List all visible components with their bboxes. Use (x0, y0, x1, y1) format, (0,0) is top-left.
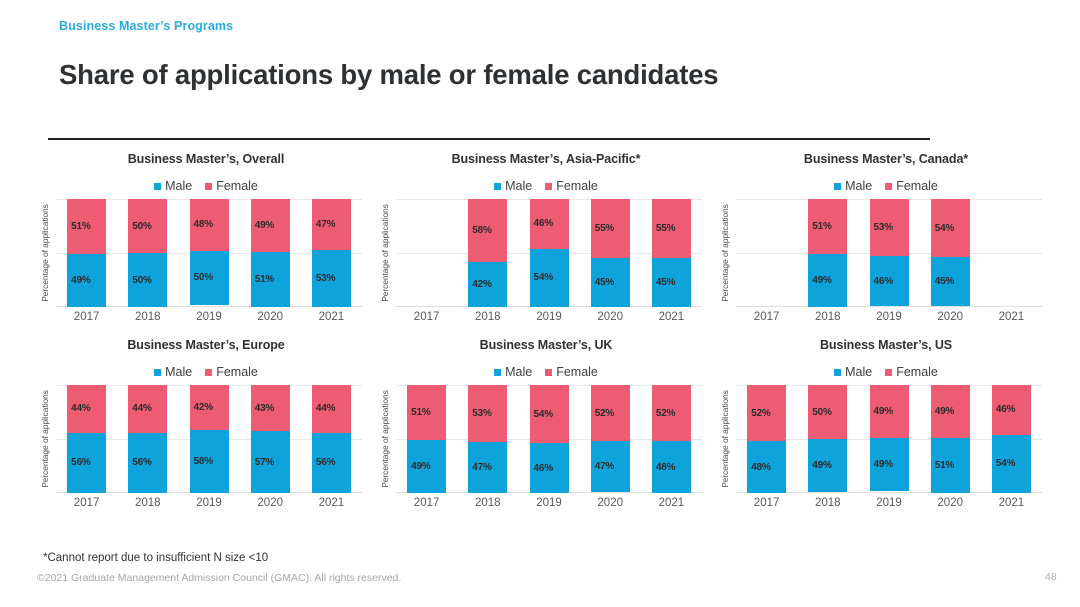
bar-segment-male-2019[interactable]: 49% (870, 438, 909, 491)
y-axis-label: Percentage of applications (36, 199, 53, 307)
bar-segment-male-2020[interactable]: 57% (251, 431, 290, 493)
bar-group: 51%49%50%50%48%50%49%51%47%53% (56, 199, 362, 307)
legend-label: Male (845, 365, 872, 379)
bar-segment-male-2021[interactable]: 56% (312, 433, 351, 493)
x-axis-tick-2021: 2021 (641, 497, 702, 509)
bar-segment-male-2021[interactable]: 45% (652, 258, 691, 307)
stacked-bar-2020[interactable]: 52%47% (591, 385, 630, 493)
bar-segment-male-2018[interactable]: 42% (468, 262, 507, 307)
legend-item-male[interactable]: Male (834, 179, 872, 193)
legend-label: Male (165, 179, 192, 193)
copyright-text: ©2021 Graduate Management Admission Coun… (37, 572, 401, 584)
x-axis-ticks: 20172018201920202021 (736, 497, 1042, 509)
legend-item-female[interactable]: Female (545, 365, 598, 379)
bar-slot-2019: 53%46% (858, 199, 919, 307)
plot-area: Percentage of applications44%56%44%56%42… (36, 385, 376, 493)
bar-segment-female-2021[interactable]: 47% (312, 199, 351, 250)
bar-slot-2020: 49%51% (920, 385, 981, 493)
stacked-bar-2017[interactable]: 44%56% (67, 385, 106, 493)
bar-value-label: 44% (128, 403, 151, 414)
bar-value-label: 53% (468, 408, 491, 419)
bar-value-label: 50% (128, 221, 151, 232)
plot-area: Percentage of applications52%48%50%49%49… (716, 385, 1056, 493)
x-axis-tick-2018: 2018 (117, 311, 178, 323)
legend-item-female[interactable]: Female (885, 179, 938, 193)
bar-segment-female-2021[interactable]: 44% (312, 385, 351, 433)
chart-title: Business Master’s, Canada* (716, 150, 1056, 168)
bar-segment-male-2020[interactable]: 47% (591, 441, 630, 492)
chart-business-masters-us: Business Master’s, USMaleFemalePercentag… (716, 336, 1056, 509)
bar-value-label: 45% (652, 277, 675, 288)
bar-value-label: 56% (312, 457, 335, 468)
legend-label: Female (216, 179, 258, 193)
bar-segment-female-2018[interactable]: 58% (468, 199, 507, 262)
bar-segment-male-2017[interactable]: 49% (407, 440, 446, 493)
x-axis-tick-2020: 2020 (920, 497, 981, 509)
bar-segment-female-2019[interactable]: 53% (870, 199, 909, 256)
stacked-bar-2021[interactable]: 47%53% (312, 199, 351, 307)
stacked-bar-2021[interactable]: 55%45% (652, 199, 691, 307)
bar-slot-2020: 52%47% (580, 385, 641, 493)
bar-slot-2021 (981, 199, 1042, 307)
bar-group: 51%49%53%46%54%45% (736, 199, 1042, 307)
bar-value-label: 49% (808, 275, 831, 286)
bar-segment-male-2018[interactable]: 56% (128, 433, 167, 493)
bar-slot-2021: 52%48% (641, 385, 702, 493)
bar-slot-2019: 54%46% (518, 385, 579, 493)
bar-segment-female-2019[interactable]: 48% (190, 199, 229, 251)
x-axis-ticks: 20172018201920202021 (56, 497, 362, 509)
bar-value-label: 58% (468, 225, 491, 236)
bar-value-label: 50% (190, 272, 213, 283)
legend-item-male[interactable]: Male (834, 365, 872, 379)
bar-value-label: 45% (931, 276, 954, 287)
chart-title: Business Master’s, Europe (36, 336, 376, 354)
bar-value-label: 46% (992, 404, 1015, 415)
bar-group: 58%42%46%54%55%45%55%45% (396, 199, 702, 307)
x-axis-tick-2018: 2018 (117, 497, 178, 509)
bar-value-label: 49% (251, 220, 274, 231)
bar-segment-male-2019[interactable]: 58% (190, 430, 229, 493)
bar-segment-male-2017[interactable]: 49% (67, 254, 106, 307)
x-axis: 20172018201920202021 (716, 497, 1056, 509)
plot-canvas: 51%49%53%46%54%45% (736, 199, 1042, 307)
legend-swatch-icon (885, 183, 892, 190)
legend-label: Female (556, 179, 598, 193)
legend-item-female[interactable]: Female (205, 365, 258, 379)
bar-segment-male-2020[interactable]: 45% (931, 257, 970, 306)
stacked-bar-2018[interactable]: 51%49% (808, 199, 847, 307)
y-axis-label-text: Percentage of applications (720, 204, 730, 302)
bar-group: 52%48%50%49%49%49%49%51%46%54% (736, 385, 1042, 493)
x-axis-tick-2019: 2019 (858, 311, 919, 323)
bar-value-label: 42% (468, 279, 491, 290)
bar-segment-male-2017[interactable]: 48% (747, 441, 786, 493)
x-axis-tick-2017: 2017 (396, 311, 457, 323)
bar-value-label: 53% (870, 222, 893, 233)
bar-slot-2019: 46%54% (518, 199, 579, 307)
bar-segment-female-2017[interactable]: 44% (67, 385, 106, 433)
bar-value-label: 43% (251, 403, 274, 414)
bar-segment-male-2020[interactable]: 45% (591, 258, 630, 307)
bar-segment-female-2020[interactable]: 49% (251, 199, 290, 252)
x-axis-ticks: 20172018201920202021 (56, 311, 362, 323)
chart-row-bottom: Business Master’s, EuropeMaleFemalePerce… (36, 336, 1056, 509)
plot-canvas: 51%49%53%47%54%46%52%47%52%48% (396, 385, 702, 493)
title-divider (48, 138, 930, 140)
x-axis-tick-2017: 2017 (736, 311, 797, 323)
legend-swatch-icon (494, 369, 501, 376)
bar-value-label: 51% (808, 221, 831, 232)
stacked-bar-2019[interactable]: 54%46% (530, 385, 569, 493)
x-axis-tick-2019: 2019 (518, 311, 579, 323)
x-axis-tick-2018: 2018 (457, 497, 518, 509)
y-axis-label: Percentage of applications (376, 199, 393, 307)
stacked-bar-2020[interactable]: 49%51% (931, 385, 970, 493)
bar-segment-female-2020[interactable]: 52% (591, 385, 630, 441)
bar-value-label: 47% (312, 219, 335, 230)
x-axis-tick-2018: 2018 (797, 497, 858, 509)
bar-value-label: 49% (808, 460, 831, 471)
plot-canvas: 44%56%44%56%42%58%43%57%44%56% (56, 385, 362, 493)
eyebrow-label: Business Master’s Programs (59, 19, 233, 33)
plot-area: Percentage of applications51%49%50%50%48… (36, 199, 376, 307)
x-axis-ticks: 20172018201920202021 (396, 497, 702, 509)
legend-item-female[interactable]: Female (545, 179, 598, 193)
bar-slot-2018: 58%42% (457, 199, 518, 307)
bar-slot-2021: 46%54% (981, 385, 1042, 493)
y-axis-label-text: Percentage of applications (380, 390, 390, 488)
legend-swatch-icon (205, 183, 212, 190)
bar-segment-male-2021[interactable]: 48% (652, 441, 691, 493)
bar-segment-male-2018[interactable]: 49% (808, 254, 847, 307)
bar-segment-female-2019[interactable]: 54% (530, 385, 569, 443)
footnote: *Cannot report due to insufficient N siz… (43, 552, 268, 564)
chart-title: Business Master’s, UK (376, 336, 716, 354)
bar-segment-female-2018[interactable]: 44% (128, 385, 167, 433)
bar-value-label: 49% (407, 461, 430, 472)
stacked-bar-2019[interactable]: 49%49% (870, 385, 909, 493)
x-axis-tick-2018: 2018 (797, 311, 858, 323)
bar-value-label: 48% (652, 462, 675, 473)
bar-value-label: 54% (530, 272, 553, 283)
x-axis-tick-2021: 2021 (981, 497, 1042, 509)
x-axis-tick-2018: 2018 (457, 311, 518, 323)
legend-label: Female (896, 179, 938, 193)
x-axis-tick-2019: 2019 (858, 497, 919, 509)
legend-label: Male (165, 365, 192, 379)
bar-segment-female-2019[interactable]: 49% (870, 385, 909, 438)
chart-legend: MaleFemale (716, 175, 1056, 197)
stacked-bar-2018[interactable]: 50%49% (808, 385, 847, 493)
bar-value-label: 44% (67, 403, 90, 414)
stacked-bar-2019[interactable]: 46%54% (530, 199, 569, 307)
page-number: 48 (1045, 571, 1057, 583)
bar-slot-2020: 43%57% (240, 385, 301, 493)
bar-group: 44%56%44%56%42%58%43%57%44%56% (56, 385, 362, 493)
bar-segment-male-2020[interactable]: 51% (251, 252, 290, 307)
bar-value-label: 49% (67, 275, 90, 286)
bar-slot-2017 (396, 199, 457, 307)
legend-label: Male (505, 365, 532, 379)
bar-segment-male-2018[interactable]: 47% (468, 442, 507, 493)
x-axis-tick-2017: 2017 (56, 497, 117, 509)
chart-row-top: Business Master’s, OverallMaleFemalePerc… (36, 150, 1056, 323)
bar-slot-2020: 55%45% (580, 199, 641, 307)
stacked-bar-2018[interactable]: 58%42% (468, 199, 507, 307)
x-axis-tick-2019: 2019 (178, 497, 239, 509)
bar-value-label: 48% (747, 462, 770, 473)
bar-value-label: 50% (808, 407, 831, 418)
chart-legend: MaleFemale (36, 175, 376, 197)
stacked-bar-2020[interactable]: 55%45% (591, 199, 630, 307)
bar-segment-female-2021[interactable]: 46% (992, 385, 1031, 435)
bar-value-label: 50% (128, 275, 151, 286)
stacked-bar-2018[interactable]: 44%56% (128, 385, 167, 493)
x-axis-spacer (376, 497, 396, 509)
bar-slot-2020: 54%45% (920, 199, 981, 307)
x-axis-tick-2020: 2020 (240, 497, 301, 509)
y-axis-label-text: Percentage of applications (40, 390, 50, 488)
x-axis-spacer (36, 311, 56, 323)
bar-slot-2021: 44%56% (301, 385, 362, 493)
bar-slot-2018: 50%49% (797, 385, 858, 493)
bar-segment-male-2018[interactable]: 50% (128, 253, 167, 307)
bar-value-label: 54% (530, 409, 553, 420)
stacked-bar-2021[interactable]: 44%56% (312, 385, 351, 493)
plot-area: Percentage of applications51%49%53%46%54… (716, 199, 1056, 307)
stacked-bar-2021[interactable]: 52%48% (652, 385, 691, 493)
stacked-bar-2020[interactable]: 54%45% (931, 199, 970, 307)
legend-swatch-icon (545, 183, 552, 190)
legend-swatch-icon (154, 183, 161, 190)
chart-business-masters-uk: Business Master’s, UKMaleFemalePercentag… (376, 336, 716, 509)
x-axis-tick-2020: 2020 (580, 497, 641, 509)
bar-value-label: 58% (190, 456, 213, 467)
stacked-bar-2019[interactable]: 53%46% (870, 199, 909, 307)
y-axis-label: Percentage of applications (36, 385, 53, 493)
bar-segment-female-2017[interactable]: 51% (67, 199, 106, 254)
x-axis: 20172018201920202021 (36, 311, 376, 323)
stacked-bar-2017[interactable]: 52%48% (747, 385, 786, 493)
bar-slot-2018: 44%56% (117, 385, 178, 493)
legend-item-female[interactable]: Female (205, 179, 258, 193)
legend-swatch-icon (834, 369, 841, 376)
bar-value-label: 46% (530, 463, 553, 474)
bar-slot-2017: 51%49% (56, 199, 117, 307)
page-title: Share of applications by male or female … (59, 59, 718, 91)
bar-value-label: 54% (992, 458, 1015, 469)
legend-label: Female (556, 365, 598, 379)
bar-value-label: 49% (870, 459, 893, 470)
bar-slot-2017 (736, 199, 797, 307)
bar-segment-female-2018[interactable]: 50% (808, 385, 847, 439)
chart-title: Business Master’s, Overall (36, 150, 376, 168)
chart-business-masters-canada: Business Master’s, Canada*MaleFemalePerc… (716, 150, 1056, 323)
bar-value-label: 49% (870, 406, 893, 417)
bar-value-label: 48% (190, 219, 213, 230)
chart-legend: MaleFemale (716, 361, 1056, 383)
x-axis-tick-2017: 2017 (56, 311, 117, 323)
x-axis-spacer (716, 497, 736, 509)
chart-legend: MaleFemale (376, 175, 716, 197)
bar-segment-male-2020[interactable]: 51% (931, 438, 970, 493)
bar-slot-2017: 52%48% (736, 385, 797, 493)
bar-value-label: 47% (591, 461, 614, 472)
x-axis: 20172018201920202021 (376, 497, 716, 509)
legend-swatch-icon (834, 183, 841, 190)
bar-segment-female-2020[interactable]: 49% (931, 385, 970, 438)
legend-item-male[interactable]: Male (154, 365, 192, 379)
x-axis-spacer (376, 311, 396, 323)
chart-legend: MaleFemale (36, 361, 376, 383)
x-axis-spacer (36, 497, 56, 509)
legend-label: Male (845, 179, 872, 193)
bar-segment-female-2021[interactable]: 55% (652, 199, 691, 258)
x-axis-tick-2021: 2021 (641, 311, 702, 323)
stacked-bar-2018[interactable]: 53%47% (468, 385, 507, 493)
bar-segment-male-2019[interactable]: 54% (530, 249, 569, 307)
bar-value-label: 46% (870, 276, 893, 287)
plot-canvas: 51%49%50%50%48%50%49%51%47%53% (56, 199, 362, 307)
legend-label: Male (505, 179, 532, 193)
bar-slot-2017: 51%49% (396, 385, 457, 493)
bar-slot-2020: 49%51% (240, 199, 301, 307)
bar-value-label: 56% (67, 457, 90, 468)
bar-value-label: 55% (652, 223, 675, 234)
stacked-bar-2019[interactable]: 48%50% (190, 199, 229, 307)
x-axis-ticks: 20172018201920202021 (396, 311, 702, 323)
stacked-bar-2018[interactable]: 50%50% (128, 199, 167, 307)
legend-label: Female (896, 365, 938, 379)
legend-swatch-icon (545, 369, 552, 376)
legend-item-male[interactable]: Male (494, 365, 532, 379)
bar-segment-female-2017[interactable]: 52% (747, 385, 786, 441)
bar-value-label: 56% (128, 457, 151, 468)
bar-value-label: 57% (251, 457, 274, 468)
stacked-bar-2020[interactable]: 49%51% (251, 199, 290, 307)
legend-swatch-icon (885, 369, 892, 376)
y-axis-label-text: Percentage of applications (720, 390, 730, 488)
bar-slot-2021: 55%45% (641, 199, 702, 307)
x-axis: 20172018201920202021 (36, 497, 376, 509)
chart-business-masters-europe: Business Master’s, EuropeMaleFemalePerce… (36, 336, 376, 509)
bar-segment-male-2017[interactable]: 56% (67, 433, 106, 493)
x-axis-ticks: 20172018201920202021 (736, 311, 1042, 323)
bar-segment-male-2019[interactable]: 46% (870, 256, 909, 306)
x-axis-tick-2017: 2017 (736, 497, 797, 509)
bar-segment-female-2019[interactable]: 42% (190, 385, 229, 430)
legend-swatch-icon (494, 183, 501, 190)
bar-value-label: 49% (931, 406, 954, 417)
chart-business-masters-overall: Business Master’s, OverallMaleFemalePerc… (36, 150, 376, 323)
bar-value-label: 51% (251, 274, 274, 285)
bar-slot-2019: 48%50% (178, 199, 239, 307)
bar-segment-female-2019[interactable]: 46% (530, 199, 569, 249)
x-axis: 20172018201920202021 (376, 311, 716, 323)
x-axis-tick-2020: 2020 (240, 311, 301, 323)
bar-segment-male-2021[interactable]: 54% (992, 435, 1031, 493)
bar-value-label: 51% (67, 221, 90, 232)
chart-legend: MaleFemale (376, 361, 716, 383)
y-axis-label-text: Percentage of applications (40, 204, 50, 302)
bar-segment-female-2020[interactable]: 54% (931, 199, 970, 257)
bar-segment-male-2018[interactable]: 49% (808, 439, 847, 492)
y-axis-label: Percentage of applications (376, 385, 393, 493)
stacked-bar-2020[interactable]: 43%57% (251, 385, 290, 493)
bar-value-label: 42% (190, 402, 213, 413)
bar-value-label: 51% (931, 460, 954, 471)
legend-label: Female (216, 365, 258, 379)
legend-swatch-icon (205, 369, 212, 376)
bar-segment-female-2020[interactable]: 55% (591, 199, 630, 258)
bar-segment-female-2020[interactable]: 43% (251, 385, 290, 431)
bar-segment-female-2017[interactable]: 51% (407, 385, 446, 440)
x-axis-spacer (716, 311, 736, 323)
legend-item-male[interactable]: Male (154, 179, 192, 193)
bar-value-label: 53% (312, 273, 335, 284)
stacked-bar-2019[interactable]: 42%58% (190, 385, 229, 493)
chart-business-masters-asia-pacific: Business Master’s, Asia-Pacific*MaleFema… (376, 150, 716, 323)
x-axis-tick-2020: 2020 (920, 311, 981, 323)
x-axis-tick-2021: 2021 (981, 311, 1042, 323)
bar-slot-2017: 44%56% (56, 385, 117, 493)
bar-segment-female-2018[interactable]: 53% (468, 385, 507, 442)
x-axis-tick-2021: 2021 (301, 497, 362, 509)
y-axis-label-text: Percentage of applications (380, 204, 390, 302)
bar-segment-male-2019[interactable]: 46% (530, 443, 569, 493)
legend-swatch-icon (154, 369, 161, 376)
chart-title: Business Master’s, Asia-Pacific* (376, 150, 716, 168)
bar-value-label: 45% (591, 277, 614, 288)
legend-item-female[interactable]: Female (885, 365, 938, 379)
bar-slot-2021: 47%53% (301, 199, 362, 307)
bar-value-label: 55% (591, 223, 614, 234)
bar-segment-male-2021[interactable]: 53% (312, 250, 351, 307)
bar-slot-2019: 42%58% (178, 385, 239, 493)
charts-container: Business Master’s, OverallMaleFemalePerc… (0, 150, 1080, 509)
plot-area: Percentage of applications51%49%53%47%54… (376, 385, 716, 493)
plot-area: Percentage of applications58%42%46%54%55… (376, 199, 716, 307)
bar-slot-2018: 53%47% (457, 385, 518, 493)
bar-slot-2018: 50%50% (117, 199, 178, 307)
stacked-bar-2017[interactable]: 51%49% (407, 385, 446, 493)
x-axis: 20172018201920202021 (716, 311, 1056, 323)
bar-segment-female-2018[interactable]: 50% (128, 199, 167, 253)
legend-item-male[interactable]: Male (494, 179, 532, 193)
bar-group: 51%49%53%47%54%46%52%47%52%48% (396, 385, 702, 493)
bar-value-label: 44% (312, 403, 335, 414)
x-axis-tick-2020: 2020 (580, 311, 641, 323)
bar-segment-female-2018[interactable]: 51% (808, 199, 847, 254)
plot-canvas: 58%42%46%54%55%45%55%45% (396, 199, 702, 307)
slide-canvas: { "header": { "eyebrow": "Business Maste… (0, 0, 1080, 607)
x-axis-tick-2021: 2021 (301, 311, 362, 323)
y-axis-label: Percentage of applications (716, 199, 733, 307)
bar-value-label: 54% (931, 223, 954, 234)
x-axis-tick-2019: 2019 (518, 497, 579, 509)
bar-slot-2019: 49%49% (858, 385, 919, 493)
bar-segment-male-2019[interactable]: 50% (190, 251, 229, 305)
bar-value-label: 52% (747, 408, 770, 419)
bar-value-label: 52% (652, 408, 675, 419)
bar-slot-2018: 51%49% (797, 199, 858, 307)
stacked-bar-2017[interactable]: 51%49% (67, 199, 106, 307)
bar-segment-female-2021[interactable]: 52% (652, 385, 691, 441)
stacked-bar-2021[interactable]: 46%54% (992, 385, 1031, 493)
y-axis-label: Percentage of applications (716, 385, 733, 493)
plot-canvas: 52%48%50%49%49%49%49%51%46%54% (736, 385, 1042, 493)
